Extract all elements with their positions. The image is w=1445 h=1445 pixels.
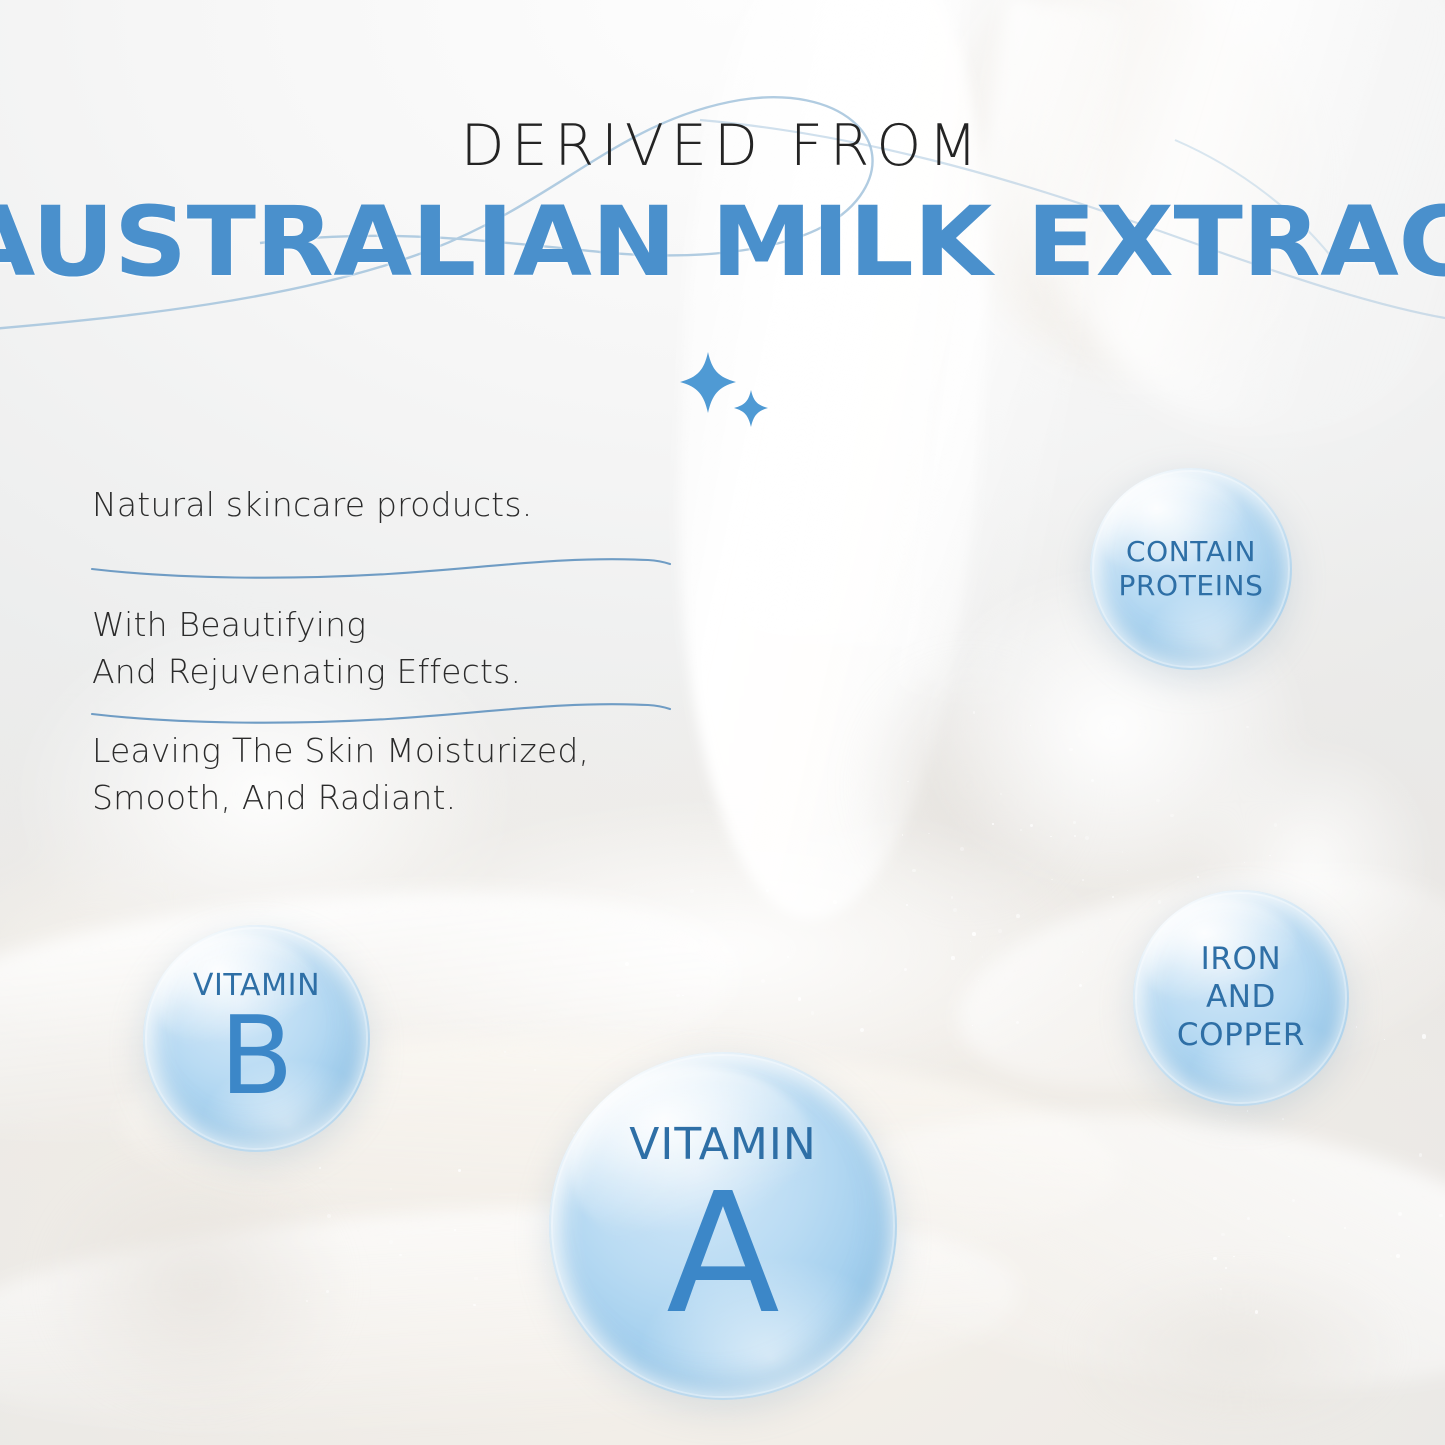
promo-banner: DERIVED FROM AUSTRALIAN MILK EXTRACTS Na… [0,0,1445,1445]
wave-divider-1-icon [88,548,673,582]
bubble-iron-label: IRON AND COPPER [1177,941,1305,1054]
wave-divider-2-icon [88,692,673,726]
sparkle-small-icon [734,390,768,427]
bubble-contain-proteins: CONTAIN PROTEINS [1090,468,1292,670]
bubble-iron-line1: IRON [1201,941,1282,977]
sparkle-large-icon [680,352,736,413]
copy-line-2b: And Rejuvenating Effects. [92,652,521,691]
bubble-iron-line3: COPPER [1177,1017,1305,1053]
bubble-iron-line2: AND [1206,979,1276,1015]
copy-line-2a: With Beautifying [92,605,366,644]
bubble-vita-letter: A [666,1176,780,1334]
background-shade-bottom-left [0,1120,560,1445]
bubble-proteins-label: CONTAIN PROTEINS [1119,535,1264,602]
copy-line-3a: Leaving The Skin Moisturized, [92,731,589,770]
copy-line-3: Leaving The Skin Moisturized, Smooth, An… [92,728,589,822]
copy-line-1: Natural skincare products. [92,482,532,529]
bubble-iron-and-copper: IRON AND COPPER [1133,890,1349,1106]
copy-line-2: With Beautifying And Rejuvenating Effect… [92,602,521,696]
page-title: AUSTRALIAN MILK EXTRACTS [0,194,1445,290]
kicker-title: DERIVED FROM [0,118,1445,175]
sparkle-group [672,350,782,430]
bubble-proteins-line1: CONTAIN [1126,535,1256,568]
bubble-proteins-line2: PROTEINS [1119,569,1264,602]
bubble-vitamin-b: VITAMIN B [143,925,370,1152]
copy-line-3b: Smooth, And Radiant. [92,778,456,817]
bubble-vitb-letter: B [219,1006,293,1109]
bubble-vitamin-a: VITAMIN A [549,1052,897,1400]
background-shade-bottom-right [925,1240,1445,1445]
